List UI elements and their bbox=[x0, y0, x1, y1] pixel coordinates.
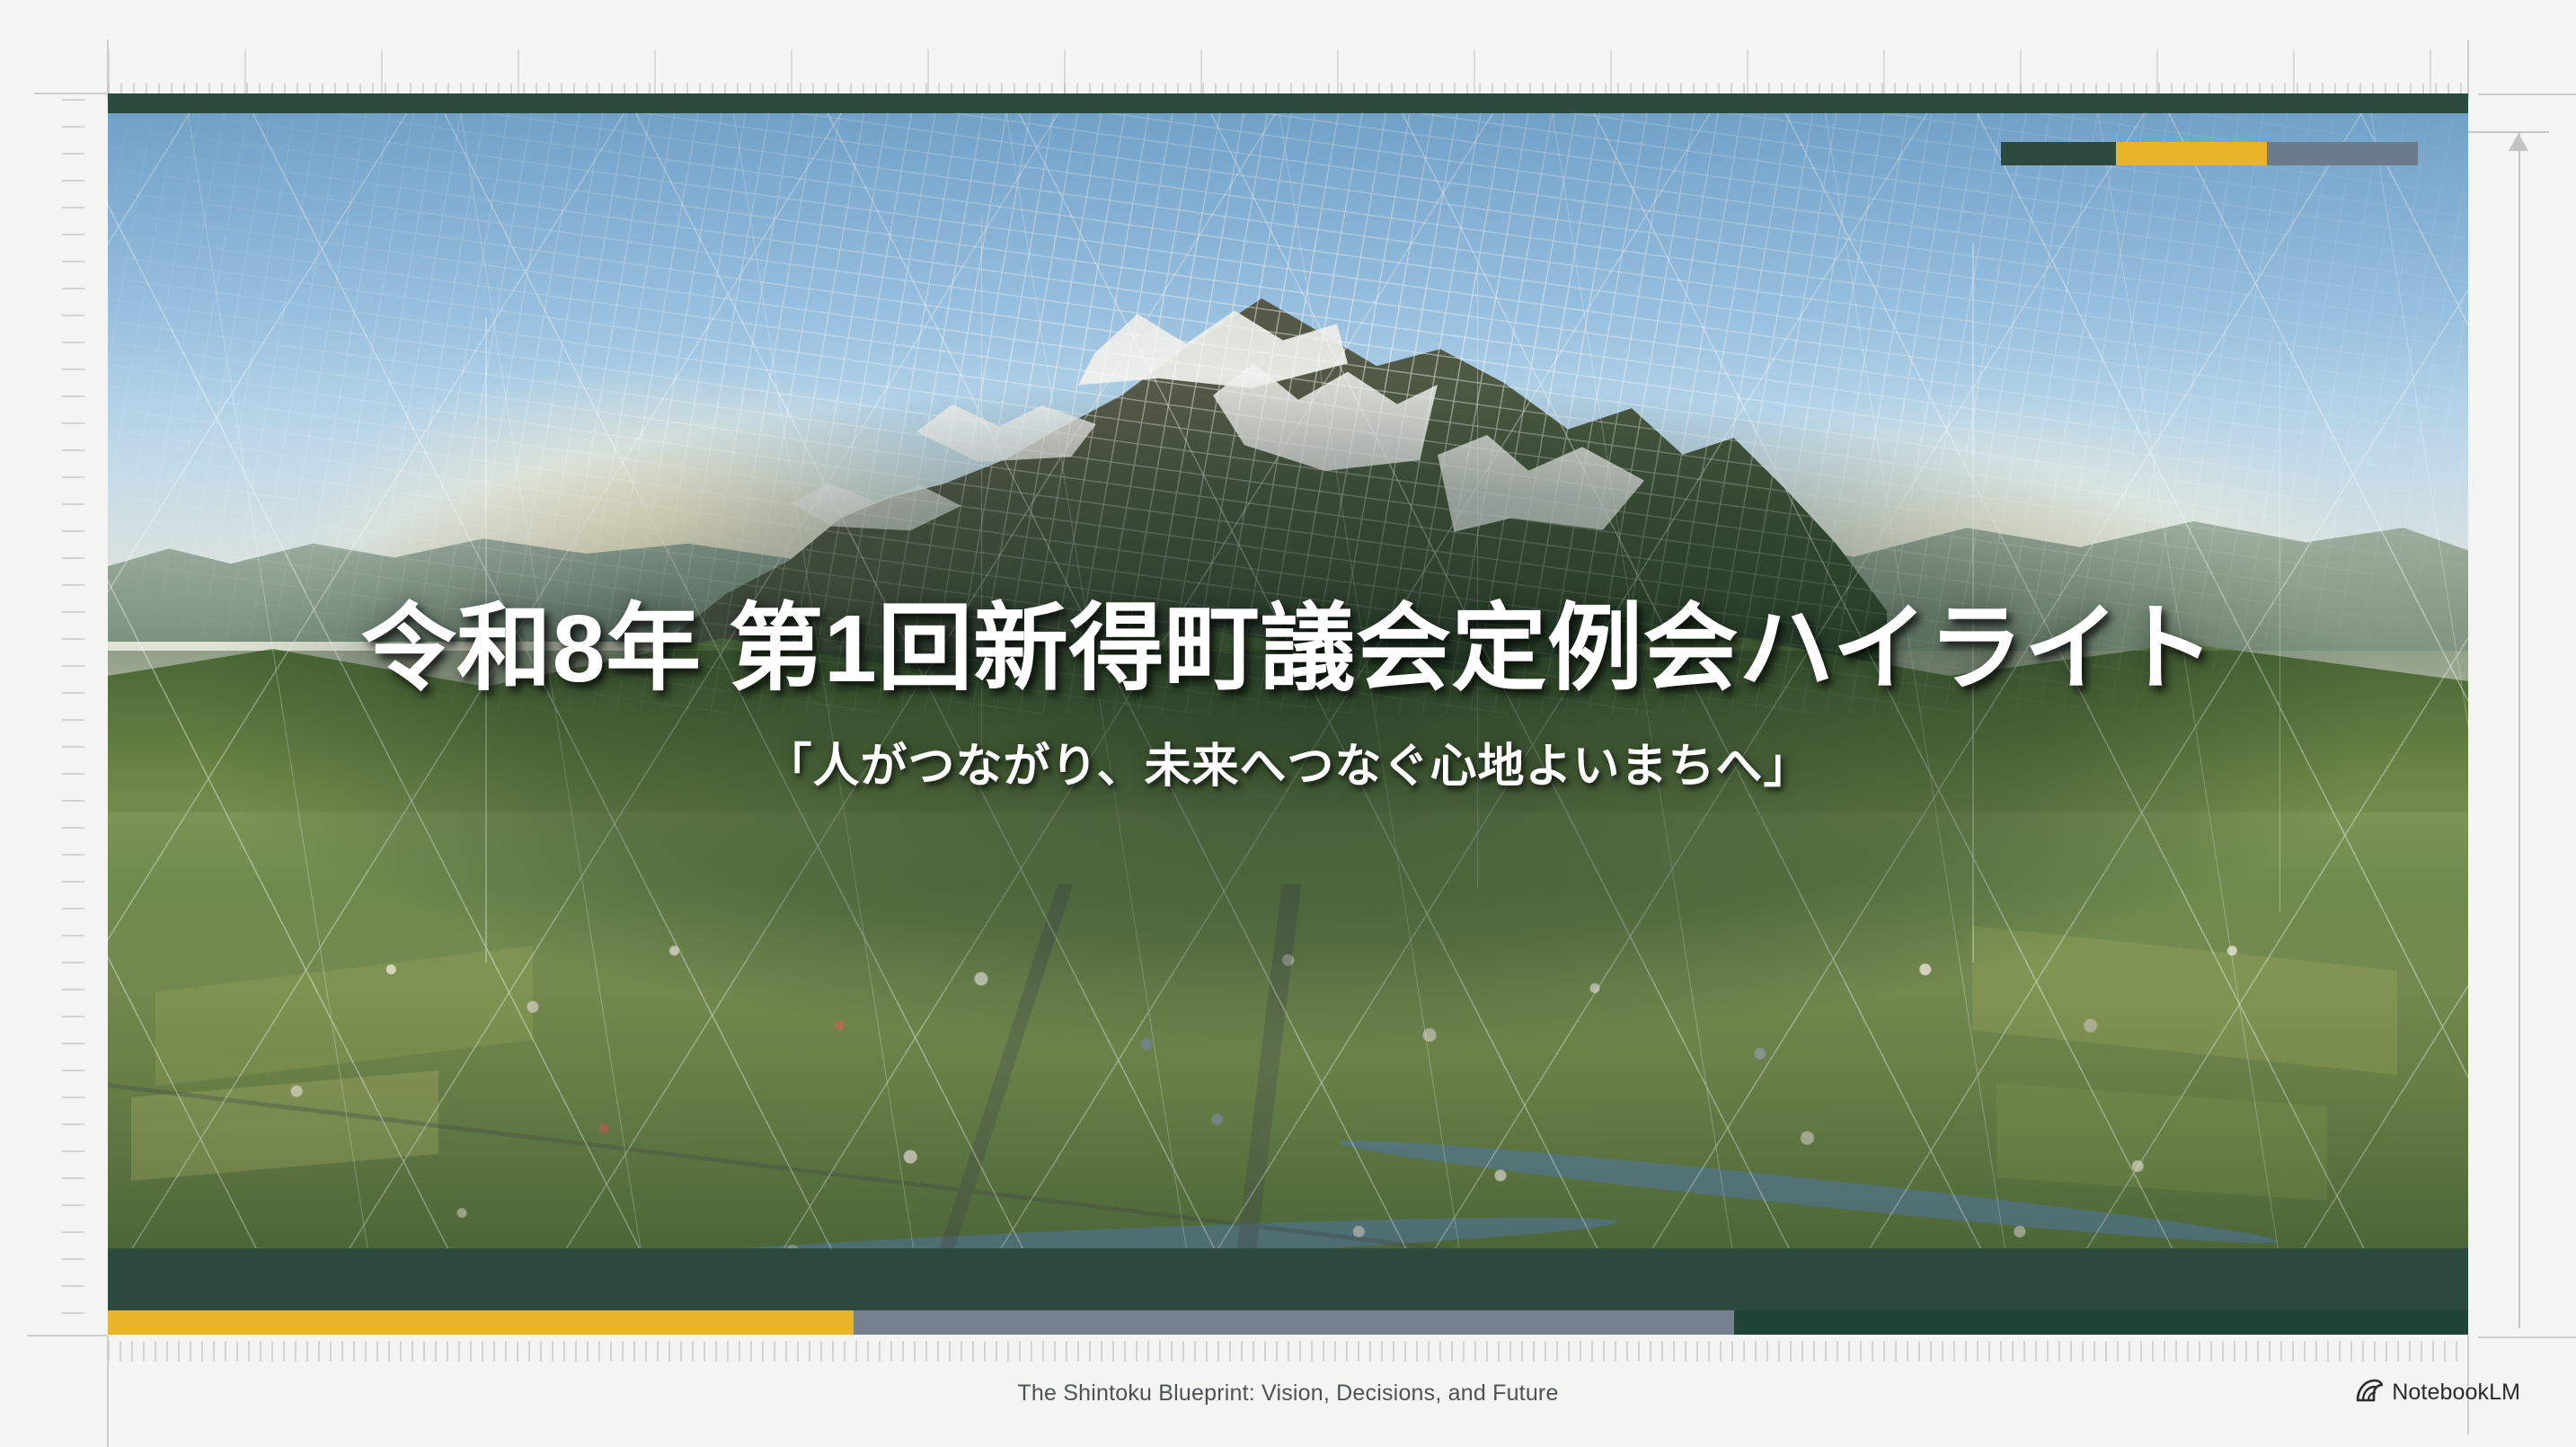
blueprint-paper-background: 令和8年 第1回新得町議会定例会ハイライト 「人がつながり、未来へつなぐ心地よい… bbox=[0, 0, 2576, 1438]
construction-line-top-left-horizontal bbox=[34, 93, 108, 94]
construction-line-right-cap-bottom bbox=[2478, 1336, 2576, 1338]
notebooklm-wordmark: NotebookLM bbox=[2392, 1380, 2520, 1406]
construction-line-top-right-vertical bbox=[2467, 40, 2469, 99]
dimension-arrow-vertical bbox=[2518, 133, 2520, 1328]
notebooklm-spark-icon bbox=[2356, 1379, 2383, 1407]
construction-line-bottom-left-horizontal bbox=[27, 1335, 108, 1336]
notebooklm-brand: NotebookLM bbox=[2356, 1379, 2520, 1407]
title-block: 令和8年 第1回新得町議会定例会ハイライト 「人がつながり、未来へつなぐ心地よい… bbox=[108, 93, 2468, 1335]
ruler-left-ticks bbox=[47, 99, 84, 1335]
footer-caption: The Shintoku Blueprint: Vision, Decision… bbox=[1017, 1380, 1558, 1407]
page-footer: The Shintoku Blueprint: Vision, Decision… bbox=[0, 1366, 2576, 1420]
title-slide: 令和8年 第1回新得町議会定例会ハイライト 「人がつながり、未来へつなぐ心地よい… bbox=[108, 93, 2468, 1335]
slide-subtitle: 「人がつながり、未来へつなぐ心地よいまちへ」 bbox=[766, 728, 1811, 795]
slide-title: 令和8年 第1回新得町議会定例会ハイライト bbox=[361, 597, 2216, 702]
construction-line-right-cap-top bbox=[2478, 93, 2576, 95]
construction-line-top-left-vertical bbox=[107, 40, 109, 99]
